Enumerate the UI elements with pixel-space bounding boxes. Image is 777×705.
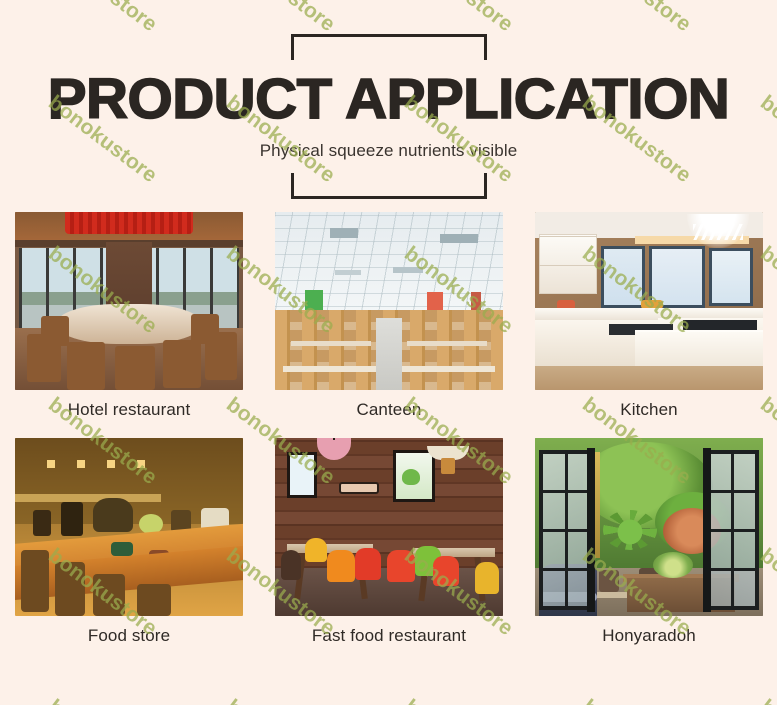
chair-red bbox=[433, 556, 459, 586]
display-item bbox=[93, 498, 133, 532]
center-aisle bbox=[376, 318, 402, 390]
photo-caption: Hotel restaurant bbox=[15, 400, 243, 420]
photo-honyaradoh bbox=[535, 438, 763, 616]
photo-caption: Fast food restaurant bbox=[275, 626, 503, 646]
page-subtitle: Physical squeeze nutrients visible bbox=[0, 141, 777, 161]
bracket-top-decoration bbox=[291, 34, 487, 60]
glass-door-right-grid bbox=[705, 450, 759, 610]
gallery-cell-food-store[interactable]: Food store bbox=[15, 438, 243, 646]
gallery-cell-kitchen[interactable]: Kitchen bbox=[535, 212, 763, 420]
chair bbox=[55, 562, 85, 616]
photo-canteen bbox=[275, 212, 503, 390]
ceiling-vent bbox=[440, 234, 478, 243]
bracket-bottom-decoration bbox=[291, 173, 487, 199]
page-title: PRODUCT APPLICATION bbox=[0, 70, 777, 128]
photo-hotel-restaurant bbox=[15, 212, 243, 390]
chair bbox=[21, 550, 49, 612]
glass-door-left-grid bbox=[539, 450, 593, 610]
chair-yellow bbox=[305, 538, 327, 562]
chair bbox=[205, 332, 237, 380]
chair-red bbox=[387, 550, 415, 582]
chair bbox=[27, 334, 61, 382]
photo-caption: Canteen bbox=[275, 400, 503, 420]
kitchen-window bbox=[649, 246, 705, 308]
product-application-page: PRODUCT APPLICATION Physical squeeze nut… bbox=[0, 0, 777, 705]
chair bbox=[67, 342, 105, 390]
framed-poster bbox=[287, 452, 317, 498]
gallery-cell-fast-food-restaurant[interactable]: Fast food restaurant bbox=[275, 438, 503, 646]
ceiling-light bbox=[393, 267, 423, 273]
door-frame bbox=[703, 448, 711, 612]
palm-plant bbox=[603, 510, 657, 550]
chair-red bbox=[355, 548, 381, 580]
gallery-cell-canteen[interactable]: Canteen bbox=[275, 212, 503, 420]
display-item bbox=[33, 510, 51, 536]
chair bbox=[281, 550, 301, 580]
red-chandelier-icon bbox=[65, 212, 193, 234]
kitchen-window bbox=[601, 246, 645, 308]
display-item bbox=[61, 502, 83, 536]
photo-kitchen bbox=[535, 212, 763, 390]
kitchen-floor bbox=[535, 366, 763, 390]
photo-caption: Food store bbox=[15, 626, 243, 646]
patio-chair bbox=[599, 570, 619, 592]
chair bbox=[137, 584, 171, 616]
photo-fast-food-restaurant bbox=[275, 438, 503, 616]
chair bbox=[115, 346, 155, 390]
wall-sign bbox=[339, 482, 379, 494]
gallery-cell-hotel-restaurant[interactable]: Hotel restaurant bbox=[15, 212, 243, 420]
chair-orange bbox=[327, 550, 355, 582]
door-frame bbox=[587, 448, 595, 612]
potted-plant bbox=[653, 552, 693, 578]
dining-table bbox=[291, 341, 371, 346]
dining-table bbox=[283, 366, 379, 372]
dining-table bbox=[407, 341, 487, 346]
photo-caption: Honyaradoh bbox=[535, 626, 763, 646]
display-item bbox=[111, 542, 133, 556]
gallery-cell-honyaradoh[interactable]: Honyaradoh bbox=[535, 438, 763, 646]
upper-cabinet-lines bbox=[539, 234, 597, 294]
page-header: PRODUCT APPLICATION Physical squeeze nut… bbox=[0, 34, 777, 199]
chandelier-icon bbox=[687, 214, 749, 248]
photo-food-store bbox=[15, 438, 243, 616]
spot-lights bbox=[47, 460, 166, 468]
dining-table bbox=[399, 366, 495, 372]
framed-poster bbox=[393, 450, 435, 502]
ceiling-vent bbox=[330, 228, 358, 238]
wall-shelf bbox=[15, 494, 161, 502]
round-dining-table bbox=[56, 304, 202, 344]
ceiling-light bbox=[335, 270, 361, 275]
gallery-row: Hotel restaurant bbox=[15, 212, 762, 420]
chair bbox=[93, 574, 125, 616]
application-gallery: Hotel restaurant bbox=[15, 212, 762, 646]
chair bbox=[163, 340, 201, 388]
gallery-row: Food store bbox=[15, 438, 762, 646]
kitchen-window bbox=[709, 248, 753, 306]
chair-yellow bbox=[475, 562, 499, 594]
photo-caption: Kitchen bbox=[535, 400, 763, 420]
